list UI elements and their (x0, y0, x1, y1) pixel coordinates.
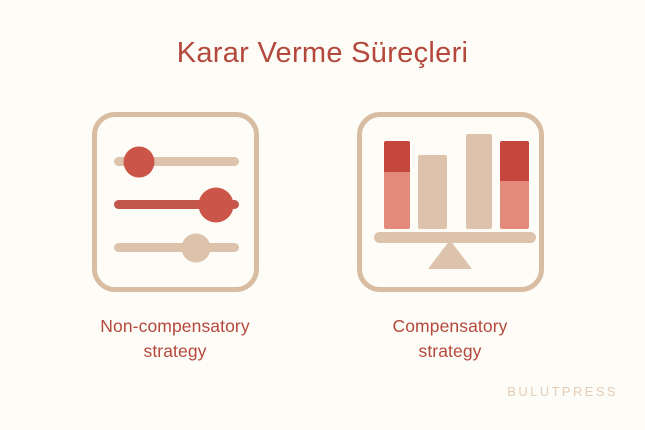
bar-3 (466, 134, 492, 229)
bar-4 (500, 141, 529, 229)
bar-3-segment-1 (466, 134, 492, 229)
panel-non-compensatory: Non-compensatory strategy (45, 112, 305, 365)
bar-4-segment-1 (500, 141, 529, 181)
diagram-panels: Non-compensatory strategy Compensatory s… (0, 112, 645, 372)
slider-track-2 (114, 200, 239, 209)
bar-2-segment-1 (418, 155, 447, 229)
bar-4-segment-2 (500, 181, 529, 229)
caption-line-2: strategy (320, 339, 580, 364)
slider-knob-2 (199, 187, 234, 222)
sliders-icon (92, 112, 259, 292)
caption-line-1: Compensatory (320, 314, 580, 339)
panel-compensatory: Compensatory strategy (320, 112, 580, 365)
balance-scale-icon (357, 112, 544, 292)
slider-track-3 (114, 243, 239, 252)
bar-2 (418, 155, 447, 229)
slider-knob-3 (182, 233, 211, 262)
caption-line-2: strategy (45, 339, 305, 364)
bar-1-segment-2 (384, 172, 410, 229)
bar-1 (384, 141, 410, 229)
watermark: BULUTPRESS (507, 384, 618, 399)
slider-track-1 (114, 157, 239, 166)
page-title: Karar Verme Süreçleri (0, 38, 645, 70)
panel-caption-compensatory: Compensatory strategy (320, 314, 580, 365)
balance-bars (380, 124, 530, 229)
balance-fulcrum (428, 240, 472, 269)
bar-1-segment-1 (384, 141, 410, 172)
slider-knob-1 (123, 146, 154, 177)
panel-caption-non-compensatory: Non-compensatory strategy (45, 314, 305, 365)
caption-line-1: Non-compensatory (45, 314, 305, 339)
